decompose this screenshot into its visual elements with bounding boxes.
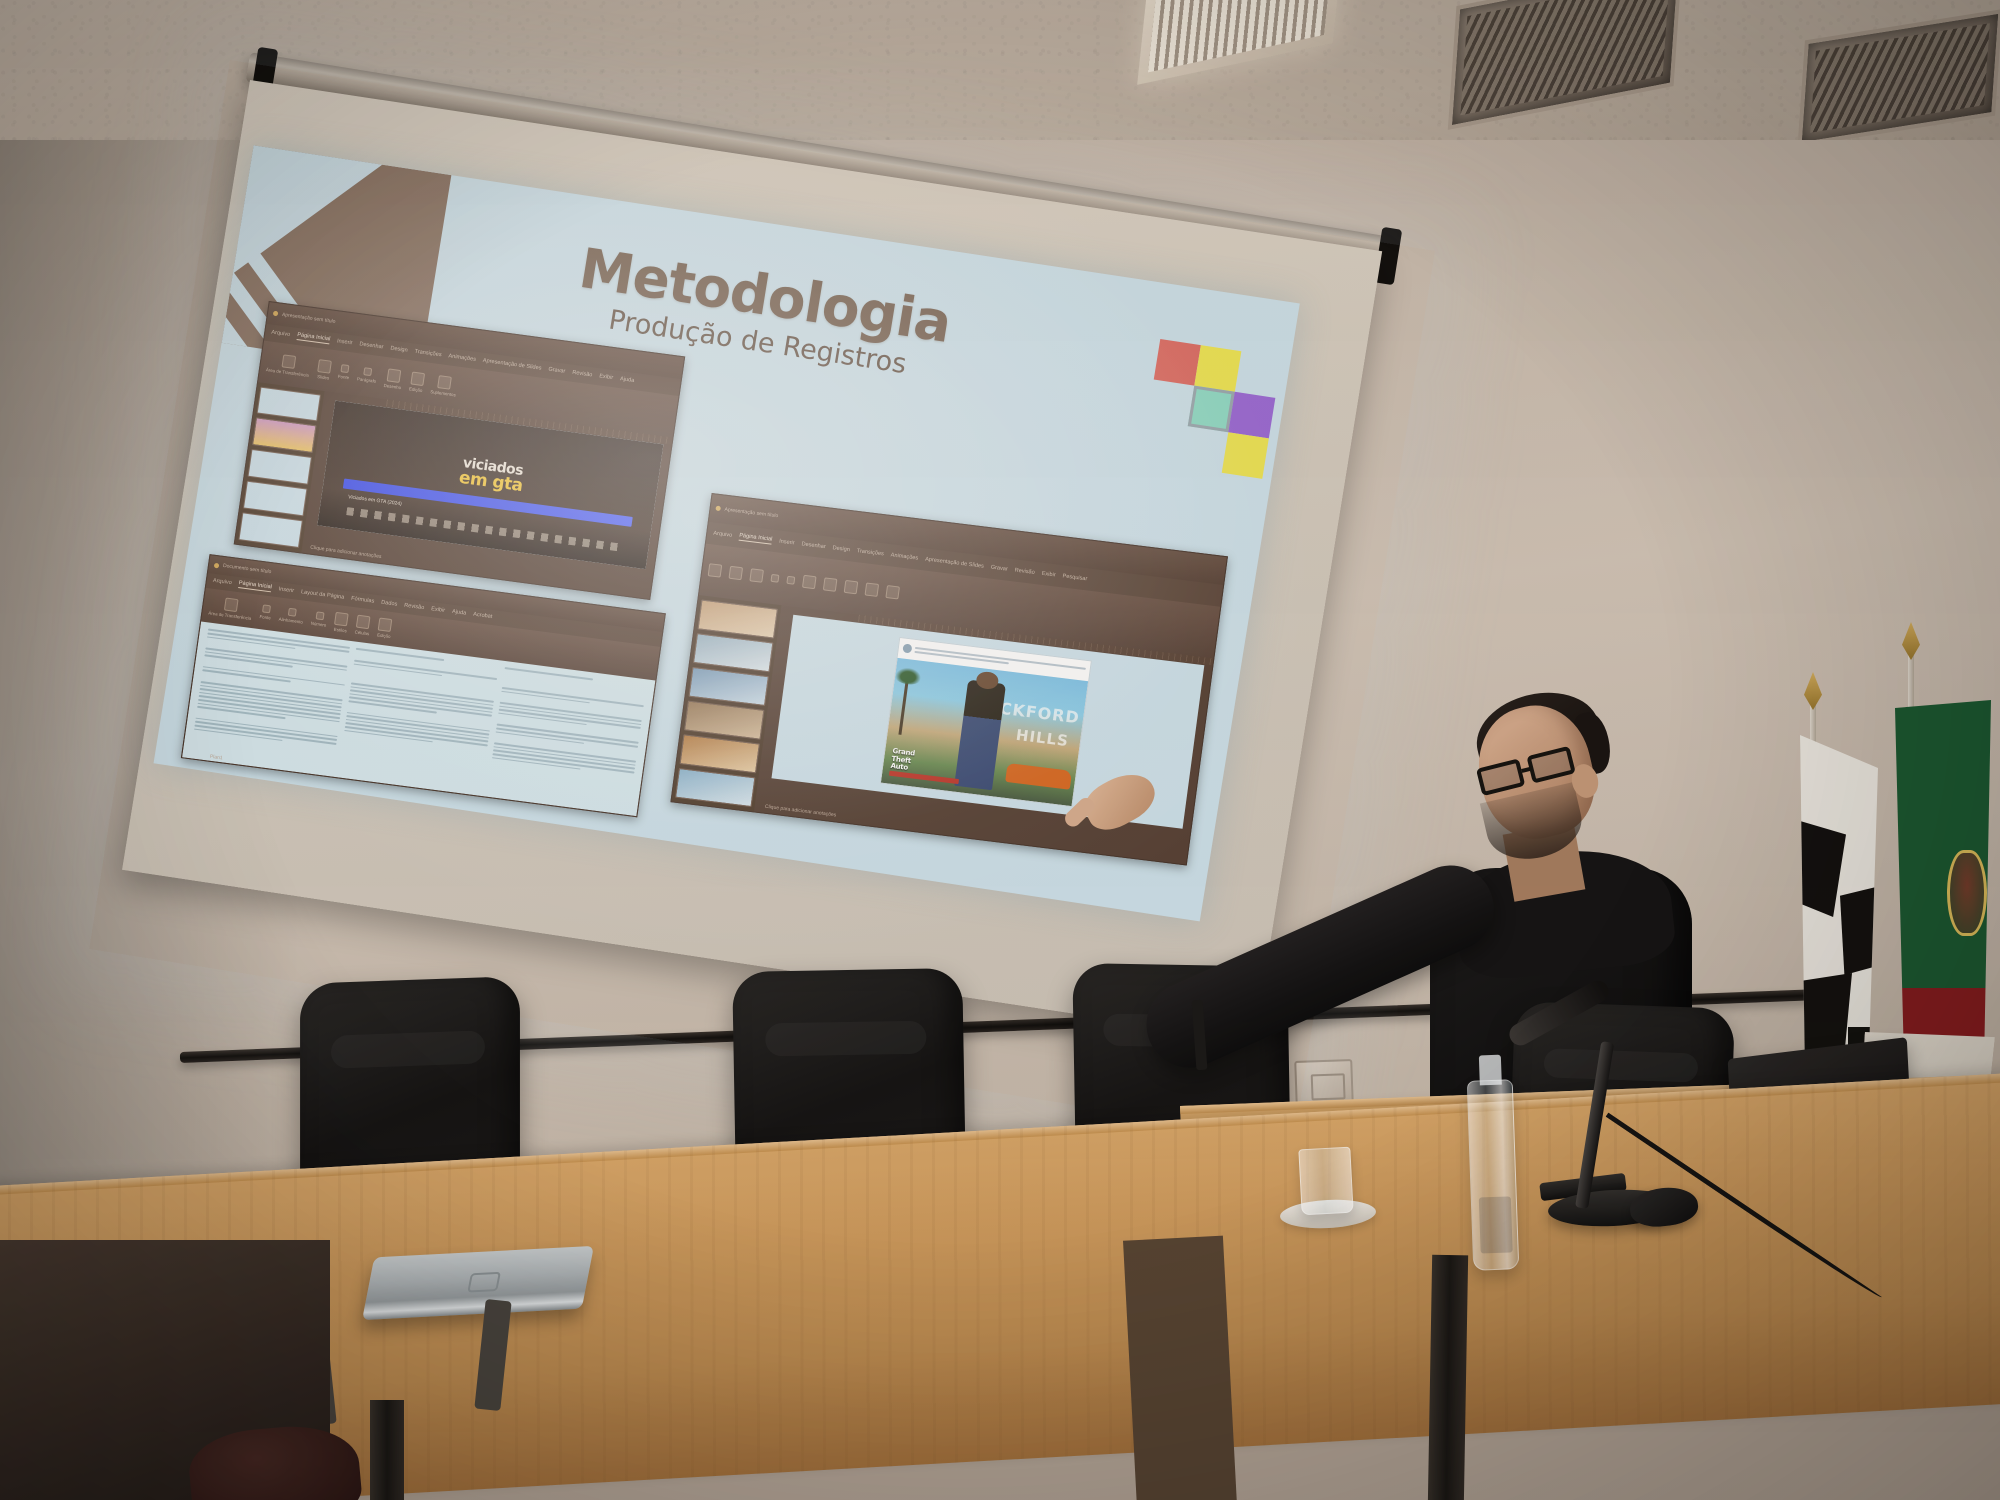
tab-exibir[interactable]: Exibir [599,374,614,382]
addins-icon [437,375,452,390]
drinking-glass[interactable] [1298,1147,1353,1216]
flag-pattern [1800,821,1846,917]
table-edge [1123,1236,1237,1500]
tab-animacoes[interactable]: Animações [448,354,476,364]
ribbon-button-new-slide[interactable] [728,566,743,580]
slide-thumbnail[interactable] [252,418,316,454]
tab-formulas[interactable]: Fórmulas [351,596,375,605]
tab-exibir[interactable]: Exibir [431,607,446,615]
tab-inserir[interactable]: Inserir [278,587,294,595]
video-caption: Viciados em GTA (2024) [348,494,402,507]
search-box[interactable]: Pesquisar [1062,573,1087,582]
document-column [339,648,499,790]
tab-apresentacao[interactable]: Apresentação de Slides [482,358,541,372]
portugal-coat-of-arms [1947,850,1987,936]
ribbon-group-paragraph[interactable]: Parágrafo [357,367,378,384]
ribbon-group-label: Fonte [259,615,271,621]
font-icon [262,605,271,614]
ribbon-group-drawing[interactable]: Desenho [383,368,403,390]
ribbon-group-font[interactable]: Fonte [259,605,272,621]
slide-thumbnail[interactable] [257,386,321,422]
slide-thumbnail[interactable] [693,633,773,672]
ribbon-group-label: Slides [317,374,330,381]
layout-icon [749,569,764,583]
car-graphic [1005,763,1072,790]
tab-inserir[interactable]: Inserir [779,538,795,546]
ribbon-button-designer[interactable] [885,585,900,599]
tab-exibir[interactable]: Exibir [1041,571,1056,579]
table-leg [370,1400,404,1500]
ribbon-group-label: Estilos [334,627,348,634]
slide-thumbnail[interactable] [680,734,760,773]
search-icon [844,580,859,594]
ribbon-button-arrange[interactable] [823,578,838,592]
tab-transicoes[interactable]: Transições [856,548,884,557]
tab-arquivo[interactable]: Arquivo [713,530,733,538]
align-icon [287,608,296,617]
tab-acrobat[interactable]: Acrobat [473,612,493,620]
projection-screen[interactable]: Metodologia Produção de Registros Aprese… [122,80,1382,1041]
ribbon-group-alignment[interactable]: Alinhamento [278,607,304,625]
game-logo: Grand Theft Auto [889,748,962,784]
ribbon-group-label: Área de Transferência [266,367,310,378]
tab-arquivo[interactable]: Arquivo [271,330,291,338]
ribbon-group-label: Suplementos [430,389,456,397]
tab-desenhar[interactable]: Desenhar [801,541,826,550]
ribbon-button-dictate[interactable] [864,583,879,597]
tab-gravar[interactable]: Gravar [548,367,566,375]
tab-dados[interactable]: Dados [381,600,398,608]
swatch-yellow-2 [1222,432,1269,479]
microphone-icon [864,583,879,597]
character-figure [954,679,1006,790]
new-slide-icon [317,359,332,374]
tab-revisao[interactable]: Revisão [404,603,425,612]
tab-desenhar[interactable]: Desenhar [359,342,384,351]
tab-gravar[interactable]: Gravar [990,564,1008,572]
tab-revisao[interactable]: Revisão [1014,567,1035,575]
tab-pagina-inicial[interactable]: Página Inicial [238,581,272,593]
app-icon [214,562,220,568]
gta-cover-art: ROCKFORD HILLS Grand Theft Auto [881,658,1089,806]
ribbon-group-label: Parágrafo [357,377,377,385]
tab-layout-pagina[interactable]: Layout da Página [300,590,344,602]
ribbon-group-editing[interactable]: Edição [409,371,425,393]
tab-inserir[interactable]: Inserir [337,339,353,347]
video-title-logo: viciados em gta [458,455,526,494]
ribbon-group-styles[interactable]: Estilos [334,612,350,633]
slide-thumbnail[interactable] [684,701,764,740]
ribbon-group-clipboard[interactable]: Área de Transferência [208,596,254,621]
app-icon [715,506,721,512]
app-title: Apresentação sem título [282,312,336,325]
ribbon-button-align[interactable] [786,576,795,585]
ribbon-group-label: Edição [377,632,391,639]
paste-icon [224,597,239,612]
palm-tree-icon [899,677,910,735]
new-slide-icon [728,566,743,580]
ribbon-button-layout[interactable] [749,569,764,583]
avatar [902,644,912,654]
slide-thumbnail[interactable] [243,481,307,517]
tab-animacoes[interactable]: Animações [890,552,918,561]
screenshot-powerpoint-video-editor: Apresentação sem título Arquivo Página I… [234,301,685,600]
ribbon-group-label: Edição [409,386,423,393]
silver-laptop[interactable] [362,1246,594,1320]
conference-room-scene: Metodologia Produção de Registros Aprese… [0,0,2000,1500]
ribbon-group-label: Fonte [338,374,350,380]
styles-icon [334,612,349,627]
coimbra-flag [1800,735,1878,1065]
slide-thumbnail[interactable] [238,512,302,548]
tab-ajuda[interactable]: Ajuda [452,609,467,617]
ribbon-group-editing[interactable]: Edição [377,617,393,639]
ribbon-group-font[interactable]: Fonte [338,364,351,380]
ribbon-button-paste[interactable] [708,564,723,578]
ribbon-group-slides[interactable]: Slides [316,359,332,381]
search-icon [378,617,393,632]
slide-thumbnail[interactable] [675,768,755,807]
ribbon-group-label: Número [310,621,326,628]
table-leg [1428,1255,1468,1500]
paste-icon [282,354,297,369]
document-column [191,629,351,771]
bold-icon [770,574,779,583]
ribbon-button-bold[interactable] [770,574,779,583]
number-format-icon [315,612,324,621]
slide-thumbnail[interactable] [689,667,769,706]
tab-design[interactable]: Design [832,545,850,553]
paste-icon [708,564,723,578]
font-icon [340,364,349,373]
cells-icon [356,615,371,630]
tab-pagina-inicial[interactable]: Página Inicial [739,532,773,544]
ribbon-group-label: Células [354,629,369,636]
app-title: Apresentação sem título [724,507,778,520]
ribbon-button-find[interactable] [844,580,859,594]
ribbon-group-addins[interactable]: Suplementos [430,374,458,397]
slide-thumbnail[interactable] [697,600,777,639]
align-icon [786,576,795,585]
slide-thumbnail[interactable] [247,449,311,485]
ribbon-button-shapes[interactable] [802,575,817,589]
tab-revisao[interactable]: Revisão [572,370,593,379]
tab-ajuda[interactable]: Ajuda [620,377,635,385]
ribbon-group-label: Alinhamento [278,617,303,625]
social-media-post: ROCKFORD HILLS Grand Theft Auto [879,636,1092,807]
tab-pagina-inicial[interactable]: Página Inicial [296,333,330,345]
ribbon-group-label: Área de Transferência [208,610,252,621]
paragraph-icon [363,367,372,376]
cover-word-2: HILLS [1015,726,1070,750]
tab-apresentacao[interactable]: Apresentação de Slides [925,556,984,569]
search-icon [410,371,425,386]
shapes-icon [802,575,817,589]
ribbon-group-clipboard[interactable]: Área de Transferência [266,352,312,378]
app-icon [273,311,279,317]
tab-transicoes[interactable]: Transições [414,349,442,359]
tab-design[interactable]: Design [390,346,408,354]
arrange-icon [823,578,838,592]
designer-icon [885,585,900,599]
app-title: Documento sem título [223,563,272,575]
ribbon-group-label: Desenho [383,383,401,390]
document-column [487,667,647,809]
ribbon-group-cells[interactable]: Células [354,615,371,637]
screenshot-word-document: Documento sem título Arquivo Página Inic… [181,554,666,817]
shapes-icon [387,368,402,383]
ribbon-group-number[interactable]: Número [310,611,328,628]
water-bottle[interactable] [1467,1079,1520,1270]
tab-arquivo[interactable]: Arquivo [212,578,232,586]
